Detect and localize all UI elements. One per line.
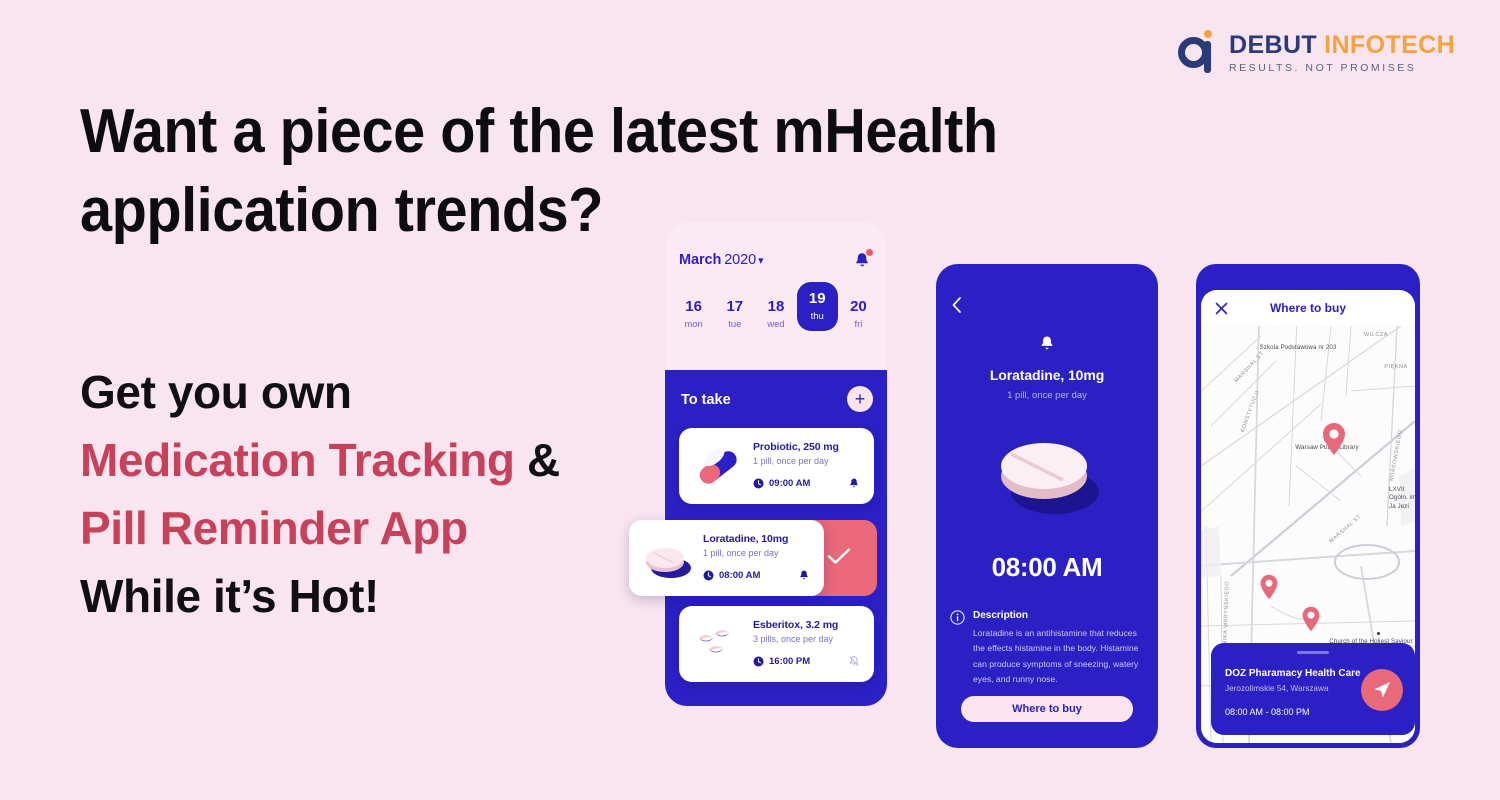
medication-time-text: 09:00 AM <box>769 478 810 489</box>
where-to-buy-button[interactable]: Where to buy <box>961 696 1133 722</box>
drag-handle[interactable] <box>1297 651 1329 654</box>
map-pin-icon[interactable] <box>1259 574 1279 600</box>
medication-detail-time: 08:00 AM <box>936 552 1158 583</box>
headline: Want a piece of the latest mHealth appli… <box>80 92 1066 251</box>
clock-icon <box>753 656 764 667</box>
brand-logo: DEBUTINFOTECH RESULTS. NOT PROMISES <box>1178 30 1455 76</box>
round-pill-illustration-icon <box>641 536 695 582</box>
capsule-illustration-icon <box>691 444 745 490</box>
day-cell[interactable]: 16 mon <box>673 290 714 331</box>
day-cell[interactable]: 17 tue <box>714 290 755 331</box>
pharmacy-address: Jerozolimskie 54, Warszawa <box>1225 684 1328 693</box>
subheadline: Get you own Medication Tracking & Pill R… <box>80 358 560 630</box>
logo-tagline: RESULTS. NOT PROMISES <box>1229 63 1455 74</box>
add-medication-button[interactable]: + <box>847 386 873 412</box>
headline-line-1: Want a piece of the latest mHealth <box>80 97 998 166</box>
month-selector[interactable]: March2020▾ <box>679 252 764 268</box>
medication-dose: 3 pills, once per day <box>753 634 833 644</box>
subhead-ampersand: & <box>515 434 560 486</box>
subhead-line-1: Get you own <box>80 358 560 426</box>
reminder-bell-off-icon[interactable] <box>848 655 860 668</box>
pharmacy-name: DOZ Pharamacy Health Care <box>1225 668 1361 679</box>
day-number: 19 <box>797 290 838 307</box>
medication-time-text: 08:00 AM <box>719 570 760 581</box>
bell-icon <box>1038 334 1056 354</box>
map-header: Where to buy <box>1201 290 1415 326</box>
description-title: Description <box>973 610 1028 621</box>
year-label: 2020 <box>724 252 756 268</box>
clock-icon <box>753 478 764 489</box>
to-take-title: To take <box>681 392 731 408</box>
map-label: LXVII Ogóln. im. Ja Jezi <box>1389 486 1415 511</box>
reminder-bell-icon[interactable] <box>798 569 810 582</box>
subhead-accent-pill: Pill Reminder App <box>80 494 560 562</box>
check-icon[interactable] <box>827 547 851 565</box>
phone-mockup-map: Where to buy <box>1196 264 1420 748</box>
day-cell-selected[interactable]: 19 thu <box>797 282 838 331</box>
day-name: tue <box>714 319 755 330</box>
calendar-header: March2020▾ 16 mon 17 tue 18 wed <box>665 222 887 370</box>
to-take-panel: To take + Probiotic, 250 mg <box>665 370 887 706</box>
crescent-pills-illustration-icon <box>691 622 745 668</box>
medication-time: 08:00 AM <box>703 570 760 581</box>
map-street-label: PIĘKNA <box>1379 364 1413 371</box>
day-number: 16 <box>673 298 714 315</box>
medication-name: Esberitox, 3.2 mg <box>753 619 838 631</box>
medication-time: 16:00 PM <box>753 656 810 667</box>
notification-dot <box>866 249 873 256</box>
medication-name: Loratadine, 10mg <box>703 533 788 545</box>
medication-card[interactable]: Esberitox, 3.2 mg 3 pills, once per day … <box>679 606 874 682</box>
round-pill-hero-illustration-icon <box>989 414 1105 526</box>
logo-word-debut: DEBUT <box>1229 31 1317 59</box>
medication-dose: 1 pill, once per day <box>753 456 829 466</box>
week-strip: 16 mon 17 tue 18 wed 19 thu 20 fri <box>673 290 879 331</box>
day-name: thu <box>797 311 838 322</box>
logo-mark-icon <box>1178 30 1220 76</box>
medication-name: Probiotic, 250 mg <box>753 441 839 453</box>
logo-word-infotech: INFOTECH <box>1324 31 1455 59</box>
description-body: Loratadine is an antihistamine that redu… <box>973 626 1145 687</box>
subhead-line-4: While it’s Hot! <box>80 562 560 630</box>
medication-card-swiped[interactable]: Loratadine, 10mg 1 pill, once per day 08… <box>629 520 877 596</box>
poster-canvas: DEBUTINFOTECH RESULTS. NOT PROMISES Want… <box>0 0 1500 800</box>
day-number: 20 <box>838 298 879 315</box>
day-name: fri <box>838 319 879 330</box>
month-label: March <box>679 252 721 268</box>
chevron-down-icon: ▾ <box>758 255 763 267</box>
medication-detail-dose: 1 pill, once per day <box>936 390 1158 401</box>
medication-time-text: 16:00 PM <box>769 656 810 667</box>
day-cell[interactable]: 20 fri <box>838 290 879 331</box>
back-chevron-icon[interactable] <box>950 296 964 314</box>
subhead-accent-medication: Medication Tracking <box>80 434 515 486</box>
pharmacy-hours: 08:00 AM - 08:00 PM <box>1225 707 1310 717</box>
map-poi-dot <box>1377 632 1380 635</box>
notification-bell-icon[interactable] <box>852 250 872 270</box>
day-name: mon <box>673 319 714 330</box>
navigate-arrow-icon[interactable] <box>1361 669 1403 711</box>
map-pin-icon[interactable] <box>1301 606 1321 632</box>
map-street-label: WILCZA <box>1359 332 1393 339</box>
pharmacy-info-card[interactable]: DOZ Pharamacy Health Care Jerozolimskie … <box>1211 643 1415 735</box>
reminder-bell-icon[interactable] <box>848 477 860 490</box>
day-cell[interactable]: 18 wed <box>755 290 796 331</box>
map-screen: Where to buy <box>1201 290 1415 743</box>
day-number: 18 <box>755 298 796 315</box>
phone-mockup-detail: Loratadine, 10mg 1 pill, once per day 08… <box>936 264 1158 748</box>
medication-dose: 1 pill, once per day <box>703 548 779 558</box>
medication-card[interactable]: Loratadine, 10mg 1 pill, once per day 08… <box>629 520 824 596</box>
info-icon <box>950 610 965 625</box>
map-pin-icon[interactable] <box>1321 422 1347 456</box>
map-title: Where to buy <box>1201 301 1415 315</box>
headline-line-2: application trends? <box>80 171 1066 250</box>
day-number: 17 <box>714 298 755 315</box>
day-name: wed <box>755 319 796 330</box>
phone-mockup-schedule: March2020▾ 16 mon 17 tue 18 wed <box>665 222 887 706</box>
clock-icon <box>703 570 714 581</box>
medication-detail-title: Loratadine, 10mg <box>936 367 1158 383</box>
medication-time: 09:00 AM <box>753 478 810 489</box>
medication-card[interactable]: Probiotic, 250 mg 1 pill, once per day 0… <box>679 428 874 504</box>
